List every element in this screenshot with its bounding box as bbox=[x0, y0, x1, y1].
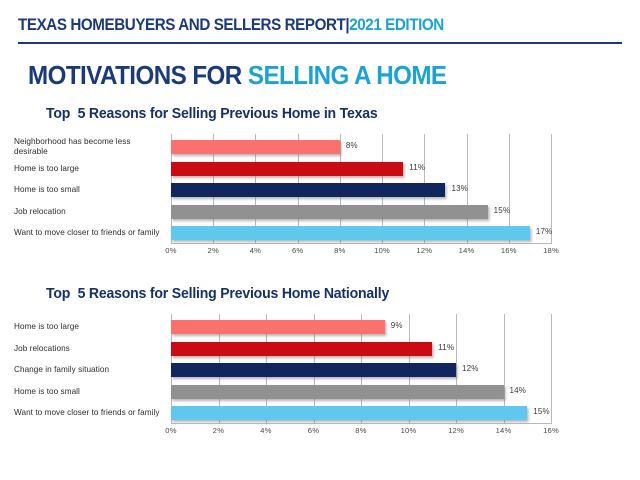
bar-texas-2 bbox=[171, 183, 445, 197]
category-label: Neighborhood has become less desirable bbox=[14, 137, 166, 158]
chart-texas-plot-area: 8%11%13%15%17% bbox=[171, 134, 551, 244]
bar-row: 12% bbox=[171, 363, 551, 377]
bar-row: 8% bbox=[171, 140, 551, 154]
x-tick-label: 6% bbox=[308, 426, 319, 435]
x-tick-label: 4% bbox=[250, 246, 261, 255]
axis-baseline bbox=[171, 423, 551, 424]
x-tick-label: 6% bbox=[292, 246, 303, 255]
bar-row: 15% bbox=[171, 406, 551, 420]
x-tick-label: 2% bbox=[213, 426, 224, 435]
x-tick-label: 18% bbox=[543, 246, 559, 255]
bar-row: 14% bbox=[171, 385, 551, 399]
bar-texas-0 bbox=[171, 140, 340, 154]
category-label: Home is too small bbox=[14, 185, 166, 195]
x-tick-label: 12% bbox=[416, 246, 432, 255]
bar-value-label: 8% bbox=[346, 141, 358, 150]
bar-row: 15% bbox=[171, 205, 551, 219]
x-tick-label: 14% bbox=[459, 246, 475, 255]
bar-national-1 bbox=[171, 342, 432, 356]
bar-value-label: 11% bbox=[409, 163, 425, 172]
chart-texas: Top 5 Reasons for Selling Previous Home … bbox=[0, 106, 640, 260]
report-title: TEXAS HOMEBUYERS AND SELLERS REPORT|2021… bbox=[18, 17, 574, 34]
x-tick-label: 2% bbox=[208, 246, 219, 255]
chart-national: Top 5 Reasons for Selling Previous Home … bbox=[0, 286, 640, 440]
bar-value-label: 11% bbox=[438, 343, 454, 352]
category-label: Want to move closer to friends or family bbox=[14, 408, 166, 418]
category-label: Home is too large bbox=[14, 322, 166, 332]
category-label: Job relocation bbox=[14, 207, 166, 217]
bar-row: 11% bbox=[171, 342, 551, 356]
category-label: Home is too large bbox=[14, 164, 166, 174]
x-tick-label: 8% bbox=[334, 246, 345, 255]
x-tick-label: 14% bbox=[496, 426, 512, 435]
bar-value-label: 14% bbox=[510, 386, 527, 395]
chart-national-heading: Top 5 Reasons for Selling Previous Home … bbox=[46, 286, 622, 302]
page-title: MOTIVATIONS FOR SELLING A HOME bbox=[28, 60, 447, 91]
chart-texas-x-axis: 0%2%4%6%8%10%12%14%16%18% bbox=[171, 246, 551, 260]
x-tick-label: 10% bbox=[401, 426, 417, 435]
category-label: Change in family situation bbox=[14, 365, 166, 375]
page-title-part1: MOTIVATIONS FOR bbox=[28, 60, 242, 90]
chart-national-plot-area: 9%11%12%14%15% bbox=[171, 314, 551, 424]
page-title-part2: SELLING A HOME bbox=[248, 60, 447, 90]
chart-texas-heading: Top 5 Reasons for Selling Previous Home … bbox=[46, 106, 622, 122]
bar-national-3 bbox=[171, 385, 504, 399]
gridline bbox=[551, 314, 552, 424]
category-label: Job relocations bbox=[14, 344, 166, 354]
axis-baseline bbox=[171, 243, 551, 244]
x-tick-label: 0% bbox=[165, 426, 176, 435]
bar-row: 13% bbox=[171, 183, 551, 197]
chart-texas-category-labels: Neighborhood has become less desirableHo… bbox=[14, 134, 166, 244]
bar-texas-3 bbox=[171, 205, 488, 219]
category-label: Want to move closer to friends or family bbox=[14, 228, 166, 238]
bar-texas-1 bbox=[171, 162, 403, 176]
bar-national-2 bbox=[171, 363, 456, 377]
bar-texas-4 bbox=[171, 226, 530, 240]
x-tick-label: 10% bbox=[374, 246, 390, 255]
bar-value-label: 15% bbox=[494, 206, 511, 215]
bar-row: 17% bbox=[171, 226, 551, 240]
bar-value-label: 9% bbox=[391, 321, 403, 330]
bar-value-label: 13% bbox=[451, 184, 468, 193]
x-tick-label: 0% bbox=[165, 246, 176, 255]
bar-national-0 bbox=[171, 320, 385, 334]
x-tick-label: 4% bbox=[260, 426, 271, 435]
report-header: TEXAS HOMEBUYERS AND SELLERS REPORT|2021… bbox=[18, 17, 622, 34]
header-divider-rule bbox=[18, 42, 622, 44]
bar-value-label: 17% bbox=[536, 227, 553, 236]
report-title-main: TEXAS HOMEBUYERS AND SELLERS REPORT bbox=[18, 16, 345, 34]
chart-national-x-axis: 0%2%4%6%8%10%12%14%16% bbox=[171, 426, 551, 440]
bar-row: 9% bbox=[171, 320, 551, 334]
x-tick-label: 16% bbox=[501, 246, 517, 255]
chart-national-category-labels: Home is too largeJob relocationsChange i… bbox=[14, 314, 166, 424]
x-tick-label: 12% bbox=[448, 426, 464, 435]
x-tick-label: 16% bbox=[543, 426, 559, 435]
bar-national-4 bbox=[171, 406, 527, 420]
report-title-accent: 2021 EDITION bbox=[349, 16, 444, 34]
bar-row: 11% bbox=[171, 162, 551, 176]
bar-value-label: 12% bbox=[462, 364, 479, 373]
x-tick-label: 8% bbox=[355, 426, 366, 435]
category-label: Home is too small bbox=[14, 387, 166, 397]
bar-value-label: 15% bbox=[533, 407, 550, 416]
